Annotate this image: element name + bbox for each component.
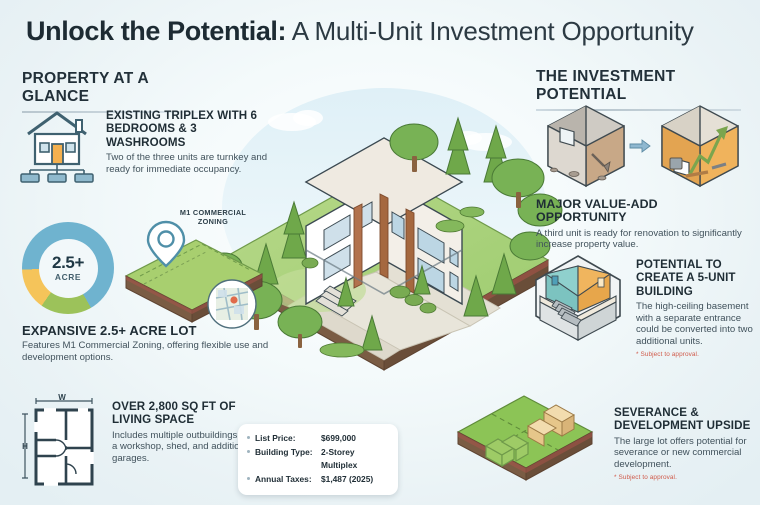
fact-row: Annual Taxes: $1,487 (2025) [247, 473, 388, 487]
acreage-donut-chart: 2.5+ ACRE [22, 222, 114, 314]
isometric-cutaway-building-icon [528, 252, 628, 344]
map-thumbnail-icon [208, 280, 256, 328]
section-header-right-label: THE INVESTMENT POTENTIAL [536, 68, 675, 103]
feature-five-unit-title: POTENTIAL TO CREATE A 5-UNIT BUILDING [636, 258, 754, 298]
fact-value: 2-Storey Multiplex [321, 446, 388, 473]
section-header-left-label: PROPERTY AT A GLANCE [22, 70, 148, 105]
fact-label: List Price: [255, 432, 321, 446]
feature-severance-title: SEVERANCE & DEVELOPMENT UPSIDE [614, 406, 754, 433]
feature-severance-body: The large lot offers potential for sever… [614, 436, 754, 471]
feature-severance-upside: SEVERANCE & DEVELOPMENT UPSIDE The large… [444, 384, 754, 490]
feature-five-unit-body: The high-ceiling basement with a separat… [636, 301, 754, 347]
feature-triplex-body: Two of the three units are turnkey and r… [106, 152, 278, 175]
page-title-light: A Multi-Unit Investment Opportunity [286, 16, 694, 46]
fact-row: List Price: $699,000 [247, 432, 388, 446]
before-after-renovation-rooms-icon [540, 100, 748, 192]
bullet-icon [247, 477, 250, 480]
floor-plan-icon: W H [16, 392, 102, 492]
fact-label: Annual Taxes: [255, 473, 321, 487]
feature-living-space: W H OVER 2,800 SQ FT OF LIVING SPACE Inc… [16, 392, 266, 492]
feature-severance-note: * Subject to approval. [614, 474, 754, 481]
fact-row: Building Type: 2-Storey Multiplex [247, 446, 388, 473]
feature-value-add-title: MAJOR VALUE-ADD OPPORTUNITY [536, 198, 750, 225]
page-title-strong: Unlock the Potential: [26, 16, 286, 46]
dimension-height-label: H [22, 442, 28, 451]
fact-label: Building Type: [255, 446, 321, 460]
infographic-root: Unlock the Potential: A Multi-Unit Inves… [0, 0, 760, 505]
feature-value-add-body: A third unit is ready for renovation to … [536, 228, 750, 251]
feature-value-add: MAJOR VALUE-ADD OPPORTUNITY A third unit… [536, 100, 750, 251]
feature-lot-body: Features M1 Commercial Zoning, offering … [22, 340, 272, 363]
feature-existing-triplex: EXISTING TRIPLEX WITH 6 BEDROOMS & 3 WAS… [18, 104, 283, 184]
feature-space-title: OVER 2,800 SQ FT OF LIVING SPACE [112, 400, 262, 427]
fact-value: $699,000 [321, 432, 356, 446]
bullet-icon [247, 436, 250, 439]
page-title: Unlock the Potential: A Multi-Unit Inves… [26, 16, 740, 47]
arrow-right-icon [630, 140, 650, 152]
key-facts-card: List Price: $699,000 Building Type: 2-St… [238, 424, 398, 495]
isometric-severed-parcel-icon [444, 384, 604, 490]
feature-lot-title: EXPANSIVE 2.5+ ACRE LOT [22, 324, 272, 337]
feature-triplex-title: EXISTING TRIPLEX WITH 6 BEDROOMS & 3 WAS… [106, 109, 278, 149]
feature-expansive-lot: 2.5+ ACRE M1 COMMERCIAL ZONING [14, 200, 284, 335]
house-with-beds-icon [18, 104, 96, 184]
isometric-lot-parcel-icon [110, 218, 270, 336]
bullet-icon [247, 450, 250, 453]
donut-value: 2.5+ [52, 254, 84, 271]
donut-unit: ACRE [55, 273, 81, 281]
dimension-width-label: W [58, 393, 66, 402]
fact-value: $1,487 (2025) [321, 473, 373, 487]
feature-five-unit-potential: POTENTIAL TO CREATE A 5-UNIT BUILDING Th… [528, 252, 754, 358]
feature-five-unit-note: * Subject to approval. [636, 351, 754, 358]
